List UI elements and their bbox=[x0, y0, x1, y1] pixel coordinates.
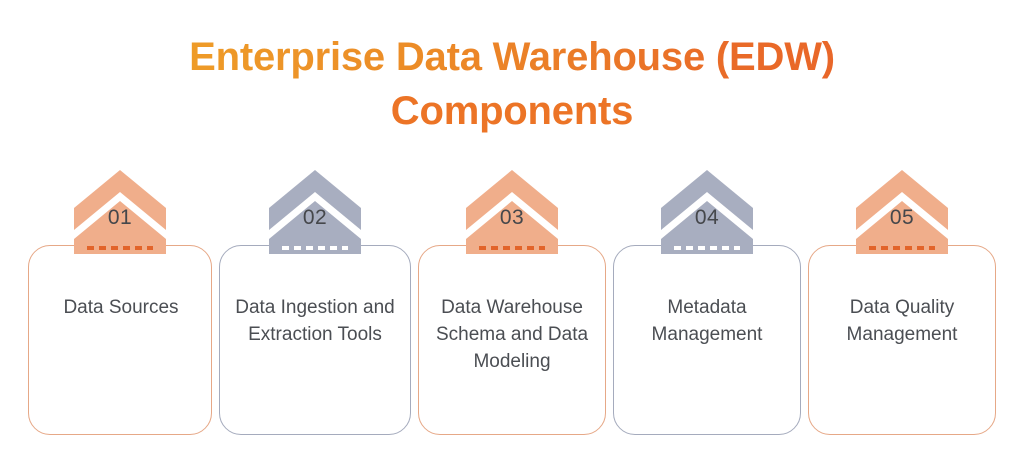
step-label-04: Metadata Management bbox=[620, 294, 794, 348]
edw-components-infographic: Enterprise Data Warehouse (EDW) Componen… bbox=[0, 0, 1024, 467]
step-marker-01: 01 bbox=[74, 170, 166, 254]
step-marker-02: 02 bbox=[269, 170, 361, 254]
step-number-01: 01 bbox=[74, 206, 166, 230]
step-card-05[interactable]: 05 Data Quality Management bbox=[808, 170, 996, 450]
page-title-line-1: Enterprise Data Warehouse (EDW) bbox=[0, 30, 1024, 84]
step-label-05: Data Quality Management bbox=[815, 294, 989, 348]
step-marker-05: 05 bbox=[856, 170, 948, 254]
step-box-03[interactable]: Data Warehouse Schema and Data Modeling bbox=[418, 245, 606, 435]
page-title: Enterprise Data Warehouse (EDW) Componen… bbox=[0, 30, 1024, 138]
step-box-01[interactable]: Data Sources bbox=[28, 245, 212, 435]
step-box-02[interactable]: Data Ingestion and Extraction Tools bbox=[219, 245, 411, 435]
step-number-03: 03 bbox=[466, 206, 558, 230]
page-title-line-2: Components bbox=[0, 84, 1024, 138]
step-marker-03: 03 bbox=[466, 170, 558, 254]
step-number-04: 04 bbox=[661, 206, 753, 230]
step-card-02[interactable]: 02 Data Ingestion and Extraction Tools bbox=[219, 170, 411, 450]
step-card-04[interactable]: 04 Metadata Management bbox=[613, 170, 801, 450]
step-marker-04: 04 bbox=[661, 170, 753, 254]
step-label-01: Data Sources bbox=[37, 294, 205, 321]
step-box-04[interactable]: Metadata Management bbox=[613, 245, 801, 435]
step-card-03[interactable]: 03 Data Warehouse Schema and Data Modeli… bbox=[418, 170, 606, 450]
step-number-02: 02 bbox=[269, 206, 361, 230]
step-label-02: Data Ingestion and Extraction Tools bbox=[226, 294, 404, 348]
step-card-01[interactable]: 01 Data Sources bbox=[28, 170, 212, 450]
step-number-05: 05 bbox=[856, 206, 948, 230]
step-box-05[interactable]: Data Quality Management bbox=[808, 245, 996, 435]
step-label-03: Data Warehouse Schema and Data Modeling bbox=[425, 294, 599, 375]
steps-row: 01 Data Sources 02 Data Ingestion and Ex… bbox=[0, 170, 1024, 450]
